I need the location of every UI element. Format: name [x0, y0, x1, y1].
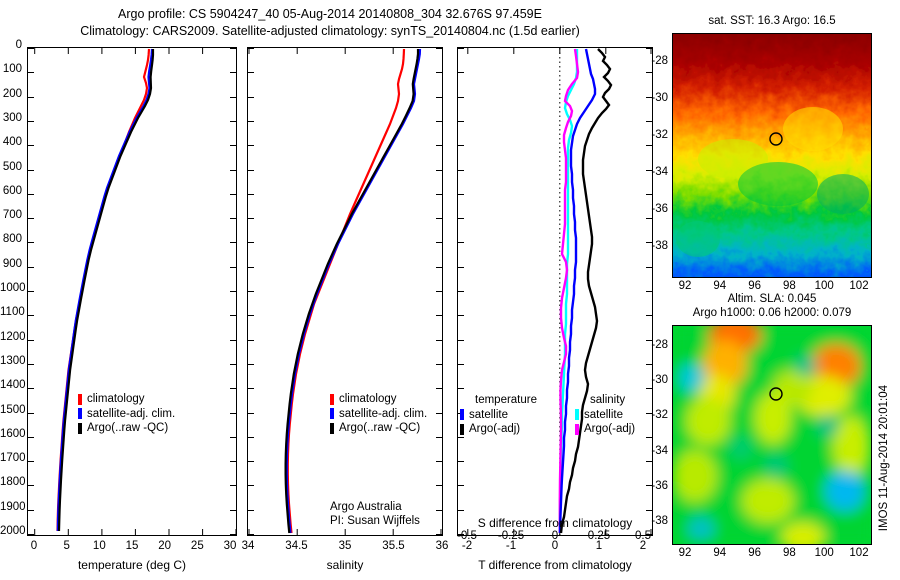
legend-label: Argo(..raw -QC) — [87, 421, 168, 436]
legend-item: satellite-adj. clim. — [330, 407, 427, 422]
imos-timestamp: IMOS 11-Aug-2014 20:01:04 — [878, 385, 890, 531]
legend-header-row: salinity — [575, 393, 635, 408]
y-tick-label: 1900 — [0, 501, 22, 513]
y-tick-label: -34 — [638, 166, 668, 178]
y-tick-label: 500 — [0, 161, 22, 173]
x-tick-label: 34.5 — [273, 540, 321, 552]
y-tick-label: 200 — [0, 88, 22, 100]
temperature-argo-raw-line — [59, 49, 153, 531]
difference-legend-salinity: salinity satellite Argo(-adj) — [575, 393, 635, 437]
x-tick-label: 34 — [224, 540, 272, 552]
y-tick-label: -38 — [638, 240, 668, 252]
y-tick-label: 1800 — [0, 476, 22, 488]
legend-swatch-argo-raw — [78, 423, 82, 434]
y-tick-label: -32 — [638, 129, 668, 141]
argo-credit: Argo Australia PI: Susan Wijffels — [330, 500, 420, 528]
y-tick-label: 300 — [0, 112, 22, 124]
x-tick-label: -1 — [487, 540, 535, 552]
legend-item: satellite — [460, 408, 537, 423]
difference-top-axis-title: S difference from climatology — [457, 516, 653, 530]
y-tick-label: 1500 — [0, 404, 22, 416]
temperature-profile-panel[interactable] — [27, 47, 237, 536]
temperature-plot-area — [28, 48, 236, 535]
salinity-plot-area — [248, 48, 442, 535]
difference-legend-temperature: temperature satellite Argo(-adj) — [460, 393, 537, 437]
y-tick-label: 800 — [0, 233, 22, 245]
temperature-x-axis-title: temperature (deg C) — [27, 558, 237, 572]
legend-label: satellite-adj. clim. — [87, 407, 175, 422]
figure-title-line1: Argo profile: CS 5904247_40 05-Aug-2014 … — [0, 6, 660, 23]
difference-bottom-axis-title: T difference from climatology — [457, 558, 653, 572]
salinity-argo-raw-line — [286, 49, 418, 533]
x-tick-label: -2 — [443, 540, 491, 552]
legend-swatch-temperature-satellite — [460, 409, 464, 420]
x-tick-label: 102 — [835, 280, 883, 292]
legend-item: Argo(-adj) — [460, 422, 537, 437]
difference-profile-panel[interactable] — [457, 47, 653, 536]
y-tick-label: -36 — [638, 203, 668, 215]
legend-swatch-temperature-argo — [460, 424, 464, 435]
sla-map-title-line1: Altim. SLA: 0.045 — [672, 292, 872, 306]
legend-item: satellite-adj. clim. — [78, 407, 175, 422]
legend-header-salinity: salinity — [590, 393, 625, 408]
legend-label: climatology — [339, 392, 397, 407]
legend-label: Argo(-adj) — [584, 422, 635, 437]
y-tick-label: 2000 — [0, 525, 22, 537]
legend-label: satellite — [584, 408, 623, 423]
argo-credit-line2: PI: Susan Wijffels — [330, 514, 420, 528]
legend-item: climatology — [78, 392, 175, 407]
salinity-legend: climatology satellite-adj. clim. Argo(..… — [330, 392, 427, 436]
difference-plot-area — [458, 48, 652, 535]
legend-swatch-climatology — [330, 394, 334, 405]
sla-map-title-line2: Argo h1000: 0.06 h2000: 0.079 — [672, 306, 872, 320]
salinity-climatology-line — [288, 49, 404, 533]
legend-item: satellite — [575, 408, 635, 423]
y-tick-label: -30 — [638, 92, 668, 104]
legend-item: Argo(..raw -QC) — [78, 421, 175, 436]
legend-label: Argo(-adj) — [469, 422, 520, 437]
sla-map-panel[interactable] — [672, 325, 872, 545]
x-tick-label: 102 — [835, 547, 883, 559]
y-tick-label: 700 — [0, 209, 22, 221]
y-tick-label: 0 — [0, 39, 22, 51]
sla-heatmap — [673, 326, 871, 544]
y-tick-label: 1700 — [0, 452, 22, 464]
legend-swatch-climatology — [78, 394, 82, 405]
x-tick-label: 1 — [575, 540, 623, 552]
salinity-profile-panel[interactable] — [247, 47, 443, 536]
y-tick-label: -36 — [638, 480, 668, 492]
temperature-legend: climatology satellite-adj. clim. Argo(..… — [78, 392, 175, 436]
sst-map-panel[interactable] — [672, 33, 872, 278]
legend-item: Argo(..raw -QC) — [330, 421, 427, 436]
legend-item: Argo(-adj) — [575, 422, 635, 437]
sst-heatmap — [673, 34, 871, 277]
legend-label: climatology — [87, 392, 145, 407]
x-tick-label: 2 — [619, 540, 667, 552]
y-tick-label: 400 — [0, 136, 22, 148]
y-tick-label: 1200 — [0, 331, 22, 343]
sla-map-title: Altim. SLA: 0.045 Argo h1000: 0.06 h2000… — [672, 292, 872, 320]
legend-header-row: temperature — [460, 393, 537, 408]
legend-label: satellite — [469, 408, 508, 423]
legend-swatch-satellite-adj — [78, 408, 82, 419]
y-tick-label: 900 — [0, 258, 22, 270]
legend-swatch-salinity-argo — [575, 424, 579, 435]
legend-swatch-salinity-satellite — [575, 409, 579, 420]
x-tick-label: 35.5 — [370, 540, 418, 552]
y-tick-label: -30 — [638, 374, 668, 386]
y-tick-label: 1400 — [0, 379, 22, 391]
y-tick-label: 600 — [0, 185, 22, 197]
x-tick-label: 0 — [531, 540, 579, 552]
y-tick-label: -32 — [638, 409, 668, 421]
y-tick-label: 1600 — [0, 428, 22, 440]
x-tick-label: 35 — [321, 540, 369, 552]
legend-swatch-argo-raw — [330, 423, 334, 434]
y-tick-label: 1100 — [0, 306, 22, 318]
y-tick-label: 1000 — [0, 282, 22, 294]
temperature-satellite-adj-line — [58, 49, 152, 531]
y-tick-label: -28 — [638, 339, 668, 351]
legend-item: climatology — [330, 392, 427, 407]
salinity-satellite-adj-line — [287, 49, 420, 533]
argo-credit-line1: Argo Australia — [330, 500, 420, 514]
y-tick-label: -28 — [638, 55, 668, 67]
sst-map-title: sat. SST: 16.3 Argo: 16.5 — [672, 14, 872, 28]
legend-header-temperature: temperature — [475, 393, 537, 408]
y-tick-label: -38 — [638, 515, 668, 527]
y-tick-label: 1300 — [0, 355, 22, 367]
legend-swatch-satellite-adj — [330, 408, 334, 419]
legend-label: Argo(..raw -QC) — [339, 421, 420, 436]
salinity-x-axis-title: salinity — [247, 558, 443, 572]
y-tick-label: -34 — [638, 445, 668, 457]
figure-title-line2: Climatology: CARS2009. Satellite-adjuste… — [0, 23, 660, 40]
legend-label: satellite-adj. clim. — [339, 407, 427, 422]
figure-title: Argo profile: CS 5904247_40 05-Aug-2014 … — [0, 6, 660, 40]
y-tick-label: 100 — [0, 63, 22, 75]
